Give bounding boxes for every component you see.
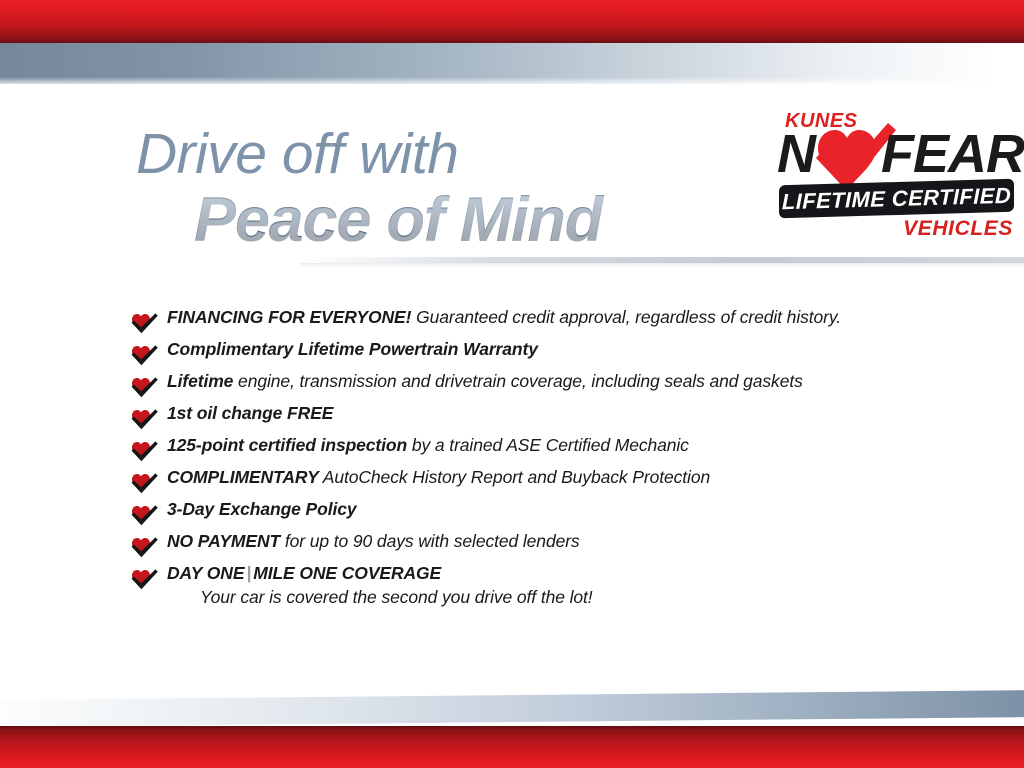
logo-lifetime-certified-text: LIFETIME CERTIFIED [779, 179, 1014, 219]
headline-line-1: Drive off with [136, 126, 756, 183]
heart-check-icon [131, 441, 158, 462]
logo-word-fear: FEAR [881, 127, 1024, 181]
list-item-bold-2: MILE ONE COVERAGE [253, 563, 441, 583]
kunes-no-fear-logo: KUNES N FEAR LIFETIME CERTIFIED VEHICLES [777, 110, 1017, 245]
list-item-bold: Complimentary Lifetime Powertrain Warran… [167, 339, 538, 359]
heart-check-icon [131, 313, 158, 334]
logo-no-fear-wordmark: N FEAR [777, 127, 1017, 187]
bottom-red-banner [0, 726, 1024, 768]
list-item-text: COMPLIMENTARY AutoCheck History Report a… [167, 469, 991, 487]
logo-lifetime-certified-banner: LIFETIME CERTIFIED [779, 179, 1014, 219]
list-item-bold: 125-point certified inspection [167, 435, 407, 455]
heart-check-icon [131, 377, 158, 398]
bottom-gray-banner [0, 690, 1024, 727]
list-item-text: Lifetime engine, transmission and drivet… [167, 373, 991, 391]
promo-slide: Drive off with Peace of Mind KUNES N FEA… [0, 0, 1024, 768]
list-item-normal: engine, transmission and drivetrain cove… [233, 371, 802, 391]
list-item-text: 1st oil change FREE [167, 405, 991, 423]
list-item: 1st oil change FREE [131, 405, 991, 437]
list-item-normal: by a trained ASE Certified Mechanic [407, 435, 689, 455]
headline-block: Drive off with Peace of Mind [136, 126, 756, 252]
list-item-text: NO PAYMENT for up to 90 days with select… [167, 533, 991, 551]
list-item: 3-Day Exchange Policy [131, 501, 991, 533]
heart-check-icon [131, 569, 158, 590]
list-item-bold: Lifetime [167, 371, 233, 391]
list-item-subtext: Your car is covered the second you drive… [200, 589, 991, 607]
list-item-text: 3-Day Exchange Policy [167, 501, 991, 519]
list-item: 125-point certified inspection by a trai… [131, 437, 991, 469]
list-item-text: 125-point certified inspection by a trai… [167, 437, 991, 455]
list-item-bold: NO PAYMENT [167, 531, 280, 551]
headline-line-2: Peace of Mind [194, 189, 756, 252]
heart-check-icon [131, 537, 158, 558]
list-item-normal: Guaranteed credit approval, regardless o… [411, 307, 841, 327]
headline-divider [300, 257, 1024, 263]
heart-check-icon [131, 345, 158, 366]
top-red-banner [0, 0, 1024, 43]
logo-word-vehicles: VEHICLES [903, 217, 1013, 241]
list-item: FINANCING FOR EVERYONE! Guaranteed credi… [131, 309, 991, 341]
heart-check-icon [131, 409, 158, 430]
list-item-bold: 1st oil change FREE [167, 403, 333, 423]
logo-letter-n: N [777, 127, 814, 181]
list-item-bold: 3-Day Exchange Policy [167, 499, 357, 519]
heart-check-icon [131, 473, 158, 494]
list-item-bold: COMPLIMENTARY [167, 467, 319, 487]
list-item-text: Complimentary Lifetime Powertrain Warran… [167, 341, 991, 359]
list-item-normal: AutoCheck History Report and Buyback Pro… [319, 467, 710, 487]
list-item: NO PAYMENT for up to 90 days with select… [131, 533, 991, 565]
list-item: COMPLIMENTARY AutoCheck History Report a… [131, 469, 991, 501]
list-item-bold: DAY ONE [167, 563, 244, 583]
list-item: DAY ONE|MILE ONE COVERAGE Your car is co… [131, 565, 991, 619]
benefits-list: FINANCING FOR EVERYONE! Guaranteed credi… [131, 309, 991, 619]
list-item: Complimentary Lifetime Powertrain Warran… [131, 341, 991, 373]
list-item-normal: for up to 90 days with selected lenders [280, 531, 580, 551]
top-gray-banner [0, 43, 1024, 84]
list-item: Lifetime engine, transmission and drivet… [131, 373, 991, 405]
list-item-bold: FINANCING FOR EVERYONE! [167, 307, 411, 327]
list-item-text: FINANCING FOR EVERYONE! Guaranteed credi… [167, 309, 991, 327]
heart-check-icon [131, 505, 158, 526]
list-item-separator: | [244, 563, 253, 583]
list-item-text: DAY ONE|MILE ONE COVERAGE [167, 565, 991, 583]
